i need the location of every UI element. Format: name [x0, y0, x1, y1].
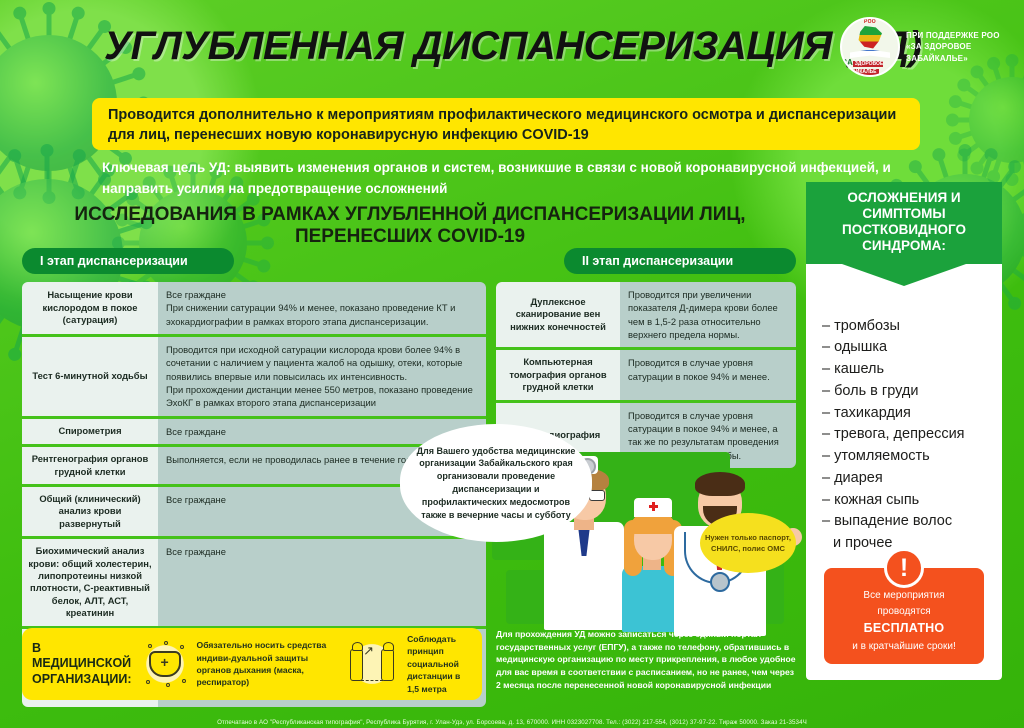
table-cell-description: Все граждане	[158, 539, 486, 625]
section-heading: ИССЛЕДОВАНИЯ В РАМКАХ УГЛУБЛЕННОЙ ДИСПАН…	[20, 204, 800, 248]
med-bar-title: В МЕДИЦИНСКОЙ ОРГАНИЗАЦИИ:	[32, 641, 132, 687]
symptom-item: – тромбозы	[822, 316, 1002, 338]
table-cell-name: Биохимический анализ крови: общий холест…	[22, 539, 158, 625]
table-cell-description: Проводится в случае уровня сатурации в п…	[620, 350, 796, 399]
medical-org-rules-bar: В МЕДИЦИНСКОЙ ОРГАНИЗАЦИИ: Обязательно н…	[22, 628, 482, 700]
table-row: СпирометрияВсе граждане	[22, 419, 486, 447]
key-goal-text: Ключевая цель УД: выявить изменения орга…	[102, 158, 902, 200]
free-services-callout: ! Все мероприятия проводятся БЕСПЛАТНО и…	[824, 568, 984, 664]
table-row: Дуплексное сканирование вен нижних конеч…	[496, 282, 796, 350]
free-line-3: и в кратчайшие сроки!	[832, 639, 976, 655]
table-cell-name: Спирометрия	[22, 419, 158, 444]
table-cell-name: Дуплексное сканирование вен нижних конеч…	[496, 282, 620, 347]
social-distance-icon: ↗	[344, 639, 400, 689]
symptom-item: – тахикардия	[822, 403, 1002, 425]
poster-root: УГЛУБЛЕННАЯ ДИСПАНСЕРИЗАЦИЯ (УД) РОО ЗАЗ…	[0, 0, 1024, 728]
rule-distance-text: Соблюдать принцип социальной дистанции в…	[407, 633, 472, 695]
symptom-item: – кожная сыпь	[822, 490, 1002, 512]
free-line-1: Все мероприятия	[832, 588, 976, 604]
tab-stage-2[interactable]: II этап диспансеризации	[564, 248, 796, 274]
free-highlight: БЕСПЛАТНО	[832, 619, 976, 638]
symptom-item: – выпадение волос	[822, 511, 1002, 533]
page-title: УГЛУБЛЕННАЯ ДИСПАНСЕРИЗАЦИЯ (УД)	[104, 26, 834, 66]
table-cell-description: Все гражданеПри снижении сатурации 94% и…	[158, 282, 486, 334]
footer-imprint: Отпечатано в АО "Республиканская типогра…	[0, 719, 1024, 726]
symptom-item: – кашель	[822, 359, 1002, 381]
rule-mask-text: Обязательно носить средства индиви-дуаль…	[197, 639, 337, 689]
speech-bubble: Для Вашего удобства медицинские организа…	[400, 424, 592, 542]
sponsor-support-text: ПРИ ПОДДЕРЖКЕ РОО «ЗА ЗДОРОВОЕ ЗАБАЙКАЛЬ…	[906, 30, 1016, 65]
face-mask-icon	[140, 639, 190, 689]
rule-mask: Обязательно носить средства индиви-дуаль…	[140, 639, 337, 689]
appointment-info-text: Для прохождения УД можно записаться чере…	[496, 628, 798, 692]
table-row: Насыщение крови кислородом в покое (сату…	[22, 282, 486, 337]
table-row: Тест 6-минутной ходьбыПроводится при исх…	[22, 337, 486, 419]
symptom-item: – тревога, депрессия	[822, 424, 1002, 446]
logo-roo-text: РОО	[864, 19, 876, 25]
table-cell-name: Насыщение крови кислородом в покое (сату…	[22, 282, 158, 334]
table-cell-description: Проводится при исходной сатурации кислор…	[158, 337, 486, 416]
rule-distance: ↗ Соблюдать принцип социальной дистанции…	[344, 633, 472, 695]
table-row: Компьютерная томография органов грудной …	[496, 350, 796, 402]
symptom-item: – утомляемость	[822, 446, 1002, 468]
symptom-item: – диарея	[822, 468, 1002, 490]
complications-sidebar: ОСЛОЖНЕНИЯ И СИМПТОМЫ ПОСТКОВИДНОГО СИНД…	[806, 182, 1002, 680]
symptom-list: – тромбозы– одышка– кашель– боль в груди…	[806, 264, 1002, 534]
table-cell-name: Общий (клинический) анализ крови разверн…	[22, 487, 158, 536]
free-line-2: проводятся	[832, 604, 976, 620]
sponsor-logo-block: РОО ЗАЗДОРОВОЕ ЗАБАЙКАЛЬЕ ПРИ ПОДДЕРЖКЕ …	[840, 8, 1016, 86]
symptom-item: – одышка	[822, 337, 1002, 359]
tab-stage-1[interactable]: I этап диспансеризации	[22, 248, 234, 274]
documents-required-badge: Нужен только паспорт, СНИЛС, полис ОМС	[700, 513, 796, 573]
table-cell-name: Компьютерная томография органов грудной …	[496, 350, 620, 399]
sidebar-heading: ОСЛОЖНЕНИЯ И СИМПТОМЫ ПОСТКОВИДНОГО СИНД…	[806, 182, 1002, 264]
exclamation-icon: !	[884, 548, 924, 588]
table-row: Биохимический анализ крови: общий холест…	[22, 539, 486, 628]
logo-book-icon	[850, 50, 890, 59]
table-cell-name: Тест 6-минутной ходьбы	[22, 337, 158, 416]
table-cell-name: Рентгенография органов грудной клетки	[22, 447, 158, 484]
za-zdorovoe-zabaikalie-logo-icon: РОО ЗАЗДОРОВОЕ ЗАБАЙКАЛЬЕ	[840, 17, 900, 77]
table-cell-description: Проводится при увеличении показателя Д-д…	[620, 282, 796, 347]
symptom-item: – боль в груди	[822, 381, 1002, 403]
logo-za-text: ЗАЗДОРОВОЕ ЗАБАЙКАЛЬЕ	[842, 59, 898, 75]
intro-yellow-banner: Проводится дополнительно к мероприятиям …	[92, 98, 920, 150]
poster-header: УГЛУБЛЕННАЯ ДИСПАНСЕРИЗАЦИЯ (УД) РОО ЗАЗ…	[0, 0, 1024, 92]
logo-map-shape-icon	[857, 26, 883, 49]
